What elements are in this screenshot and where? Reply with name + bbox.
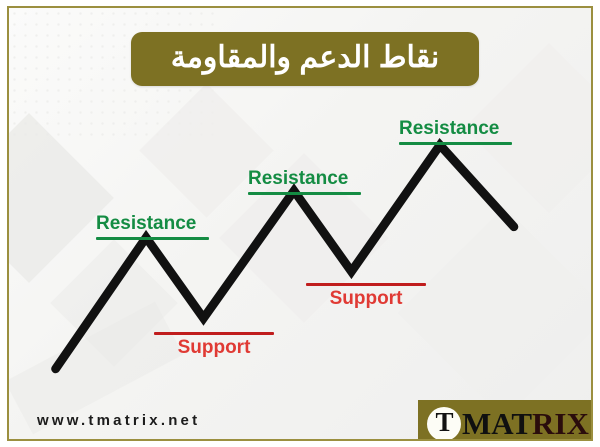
support-rule-2 bbox=[306, 283, 426, 286]
support-label-2: Support bbox=[306, 289, 426, 309]
logo-word-second: RIX bbox=[532, 406, 589, 441]
logo-word-first: MAT bbox=[462, 406, 532, 441]
marker-resistance-3: Resistance bbox=[399, 119, 512, 145]
marker-resistance-2: Resistance bbox=[248, 169, 361, 195]
resistance-rule-2 bbox=[248, 192, 361, 195]
logo-t-glyph: T bbox=[435, 409, 452, 436]
support-rule-1 bbox=[154, 332, 274, 335]
resistance-rule-3 bbox=[399, 142, 512, 145]
poster-frame: نقاط الدعم والمقاومة Resistance Support … bbox=[7, 6, 593, 441]
resistance-label-1: Resistance bbox=[96, 214, 209, 234]
logo-wordmark: MATRIX bbox=[462, 408, 589, 439]
resistance-label-3: Resistance bbox=[399, 119, 512, 139]
marker-support-1: Support bbox=[154, 332, 274, 358]
resistance-rule-1 bbox=[96, 237, 209, 240]
infographic-canvas: نقاط الدعم والمقاومة Resistance Support … bbox=[0, 0, 600, 447]
site-url[interactable]: www.tmatrix.net bbox=[37, 412, 200, 429]
marker-resistance-1: Resistance bbox=[96, 214, 209, 240]
resistance-label-2: Resistance bbox=[248, 169, 361, 189]
tmatrix-logo[interactable]: T MATRIX bbox=[418, 400, 593, 441]
marker-support-2: Support bbox=[306, 283, 426, 309]
tmatrix-mark-icon: T bbox=[427, 407, 461, 441]
support-label-1: Support bbox=[154, 338, 274, 358]
